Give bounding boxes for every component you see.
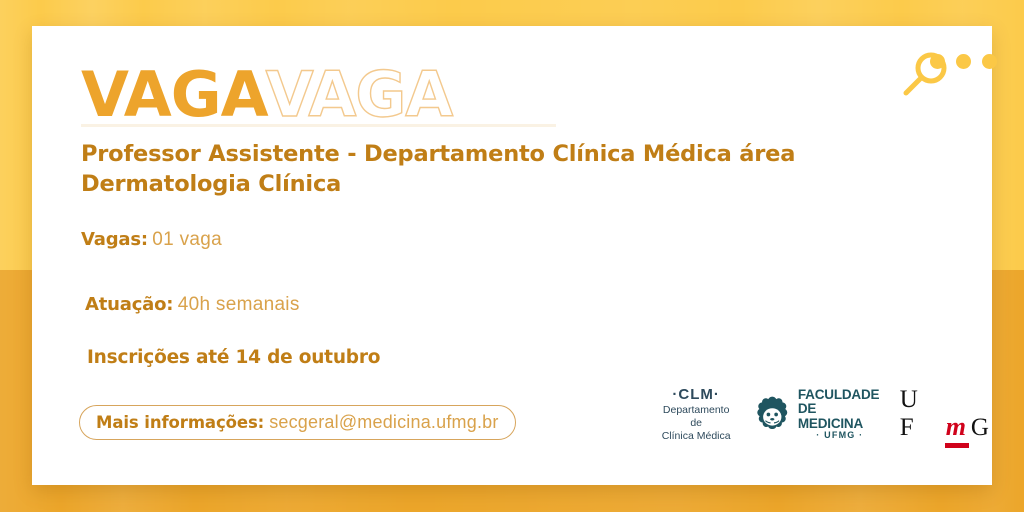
logo-faculdade-medicina: FACULDADE DE MEDICINA · UFMG · [753,388,881,441]
logo-faculdade-line1: FACULDADE [798,388,882,403]
decor-group [864,42,984,102]
poster-canvas: VAGAVAGA Professor Assistente - Departam… [0,0,1024,512]
header-divider [81,124,556,127]
detail-row-vagas: Vagas: 01 vaga [81,229,222,251]
lion-icon [753,394,792,434]
logo-clm-line2: Clínica Médica [657,430,735,443]
detail-label-atuacao: Atuação: [85,294,173,315]
logo-ufmg-prefix: U F [900,386,944,442]
logo-ufmg-highlight: m [946,412,969,442]
logo-faculdade-text: FACULDADE DE MEDICINA · UFMG · [798,388,882,441]
logo-strip: ·CLM· Departamento de Clínica Médica [657,386,992,443]
decor-dot-3 [982,54,997,69]
vaga-wordmark-outline: VAGA [266,58,453,131]
detail-value-vagas: 01 vaga [152,229,222,250]
logo-faculdade-line3: · UFMG · [798,431,882,441]
contact-label: Mais informações: [96,413,264,432]
logo-ufmg-underbar [945,443,969,448]
page-title: Professor Assistente - Departamento Clín… [81,139,841,199]
logo-ufmg-suffix: G [971,414,992,442]
logo-clm-title: ·CLM· [657,386,735,404]
logo-faculdade-line2: DE MEDICINA [798,402,882,431]
contact-pill[interactable]: Mais informações: secgeral@medicina.ufmg… [79,405,516,440]
detail-label-vagas: Vagas: [81,229,148,250]
vaga-wordmark: VAGAVAGA [81,64,452,126]
logo-ufmg: U F m G [900,386,992,442]
logo-clm: ·CLM· Departamento de Clínica Médica [657,386,735,443]
search-icon [864,42,984,102]
content-card: VAGAVAGA Professor Assistente - Departam… [32,26,992,485]
decor-dot-1 [930,54,945,69]
logo-clm-line1: Departamento de [657,404,735,430]
detail-row-atuacao: Atuação: 40h semanais [85,294,300,316]
detail-value-atuacao: 40h semanais [178,294,300,315]
contact-email[interactable]: secgeral@medicina.ufmg.br [269,412,498,433]
detail-row-inscricoes: Inscrições até 14 de outubro [87,347,380,368]
decor-dot-2 [956,54,971,69]
detail-label-inscricoes: Inscrições até 14 de outubro [87,347,380,368]
decor-dots [930,54,997,69]
logo-ufmg-m: m [946,412,969,441]
vaga-wordmark-solid: VAGA [81,58,268,131]
